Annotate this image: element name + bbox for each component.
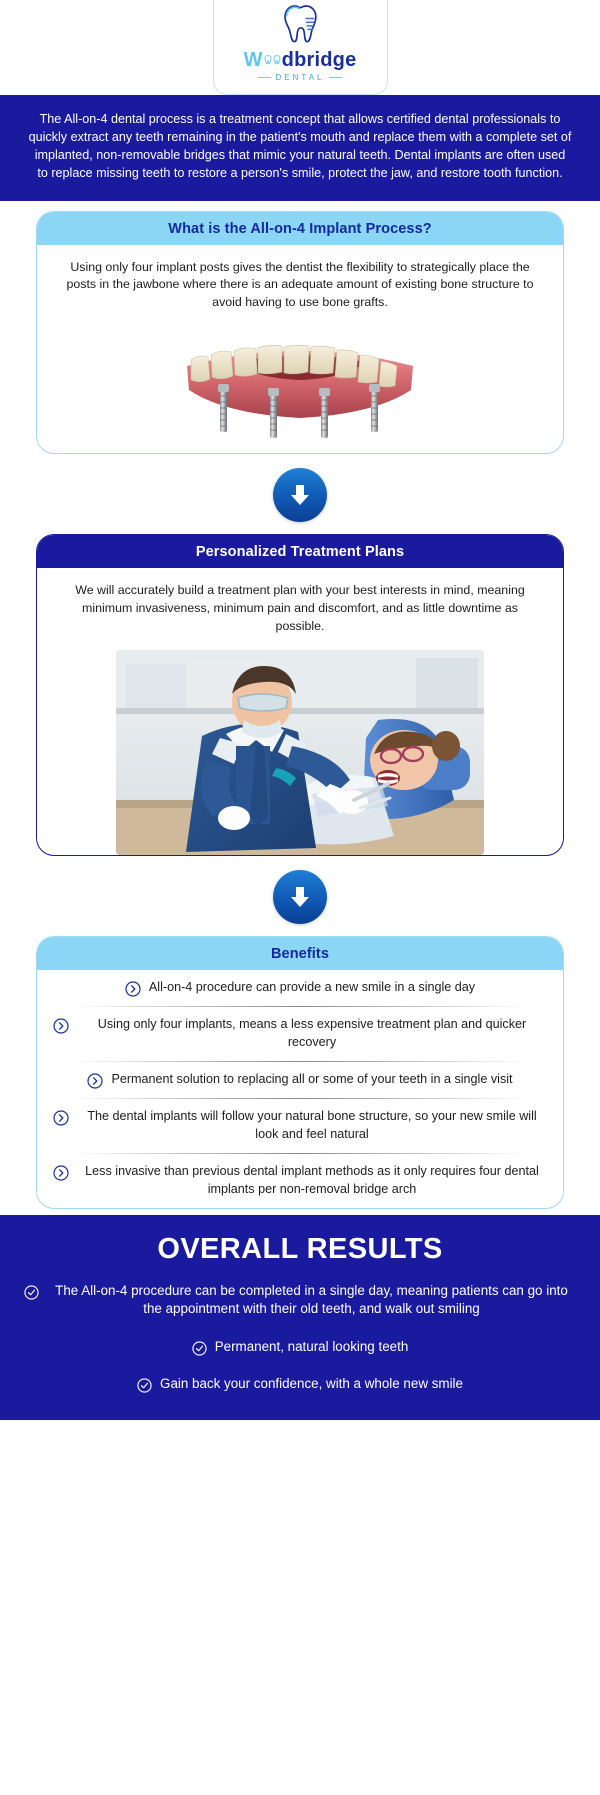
check-circle-icon [24,1285,39,1300]
section-2-title: Personalized Treatment Plans [37,535,563,568]
arrow-connector-1 [0,454,600,534]
list-item-label: The dental implants will follow your nat… [77,1108,547,1144]
logo-word-a: W [244,49,263,72]
list-item-label: Using only four implants, means a less e… [77,1016,547,1052]
list-item: Using only four implants, means a less e… [37,1007,563,1061]
tooth-icon [277,4,323,48]
logo-container: W dbridge DENTAL [213,0,388,95]
chevron-right-circle-icon [53,1018,69,1034]
check-circle-icon [192,1341,207,1356]
logo-tooth-letters [264,55,281,67]
section-1-body: Using only four implant posts gives the … [37,245,563,325]
section-1-figure [37,324,563,453]
list-divider [71,1006,529,1007]
list-item: The All-on-4 procedure can be completed … [24,1282,576,1319]
section-2-paragraph: We will accurately build a treatment pla… [59,582,541,636]
list-item-label: Gain back your confidence, with a whole … [160,1375,463,1394]
logo-dash-right [329,77,342,78]
clinic-scene-illustration [116,650,484,855]
list-item: All-on-4 procedure can provide a new smi… [37,970,563,1006]
list-item-label: Permanent, natural looking teeth [215,1338,409,1357]
section-card-1: What is the All-on-4 Implant Process? Us… [36,211,564,455]
section-1-wrapper: What is the All-on-4 Implant Process? Us… [0,211,600,455]
spacer [0,201,600,211]
overall-results-title: OVERALL RESULTS [24,1233,576,1266]
list-item: Less invasive than previous dental impla… [37,1154,563,1208]
arrow-down-icon [287,884,313,910]
list-divider [71,1153,529,1154]
arrow-circle [273,870,327,924]
benefits-list: All-on-4 procedure can provide a new smi… [37,970,563,1207]
chevron-right-circle-icon [87,1073,103,1089]
section-1-paragraph: Using only four implant posts gives the … [59,259,541,313]
arrow-circle [273,468,327,522]
list-divider [71,1061,529,1062]
benefits-card: Benefits All-on-4 procedure can provide … [36,936,564,1208]
intro-banner: The All-on-4 dental process is a treatme… [0,95,600,201]
logo-header: W dbridge DENTAL [0,0,600,95]
overall-results-section: OVERALL RESULTS The All-on-4 procedure c… [0,1215,600,1420]
list-divider [71,1098,529,1099]
list-item-label: The All-on-4 procedure can be completed … [47,1282,576,1319]
list-item-label: All-on-4 procedure can provide a new smi… [149,979,475,997]
logo-dash-left [258,77,271,78]
chevron-right-circle-icon [125,981,141,997]
check-circle-icon [137,1378,152,1393]
mini-tooth-icon [273,55,281,67]
section-1-title: What is the All-on-4 Implant Process? [37,212,563,245]
dentist-examining-patient-photo [116,650,484,855]
mini-tooth-icon [264,55,272,67]
intro-paragraph: The All-on-4 dental process is a treatme… [28,111,572,183]
section-2-body: We will accurately build a treatment pla… [37,568,563,648]
logo-subtitle: DENTAL [276,73,325,82]
chevron-right-circle-icon [53,1165,69,1181]
benefits-wrapper: Benefits All-on-4 procedure can provide … [0,936,600,1208]
list-item: Permanent, natural looking teeth [24,1338,576,1357]
arrow-down-icon [287,482,313,508]
list-item: Gain back your confidence, with a whole … [24,1375,576,1394]
infographic-page: W dbridge DENTAL The All-on-4 dental p [0,0,600,1420]
section-2-wrapper: Personalized Treatment Plans We will acc… [0,534,600,856]
section-2-figure [37,648,563,855]
logo-word-b: dbridge [282,49,357,72]
list-item-label: Permanent solution to replacing all or s… [111,1071,512,1089]
logo-subtitle-row: DENTAL [258,73,343,82]
dental-implant-arch-image [175,328,425,443]
list-item-label: Less invasive than previous dental impla… [77,1163,547,1199]
list-item: The dental implants will follow your nat… [37,1099,563,1153]
list-item: Permanent solution to replacing all or s… [37,1062,563,1098]
arrow-connector-2 [0,856,600,936]
logo-wordmark: W dbridge [244,49,357,72]
section-card-2: Personalized Treatment Plans We will acc… [36,534,564,856]
benefits-title: Benefits [37,937,563,970]
chevron-right-circle-icon [53,1110,69,1126]
